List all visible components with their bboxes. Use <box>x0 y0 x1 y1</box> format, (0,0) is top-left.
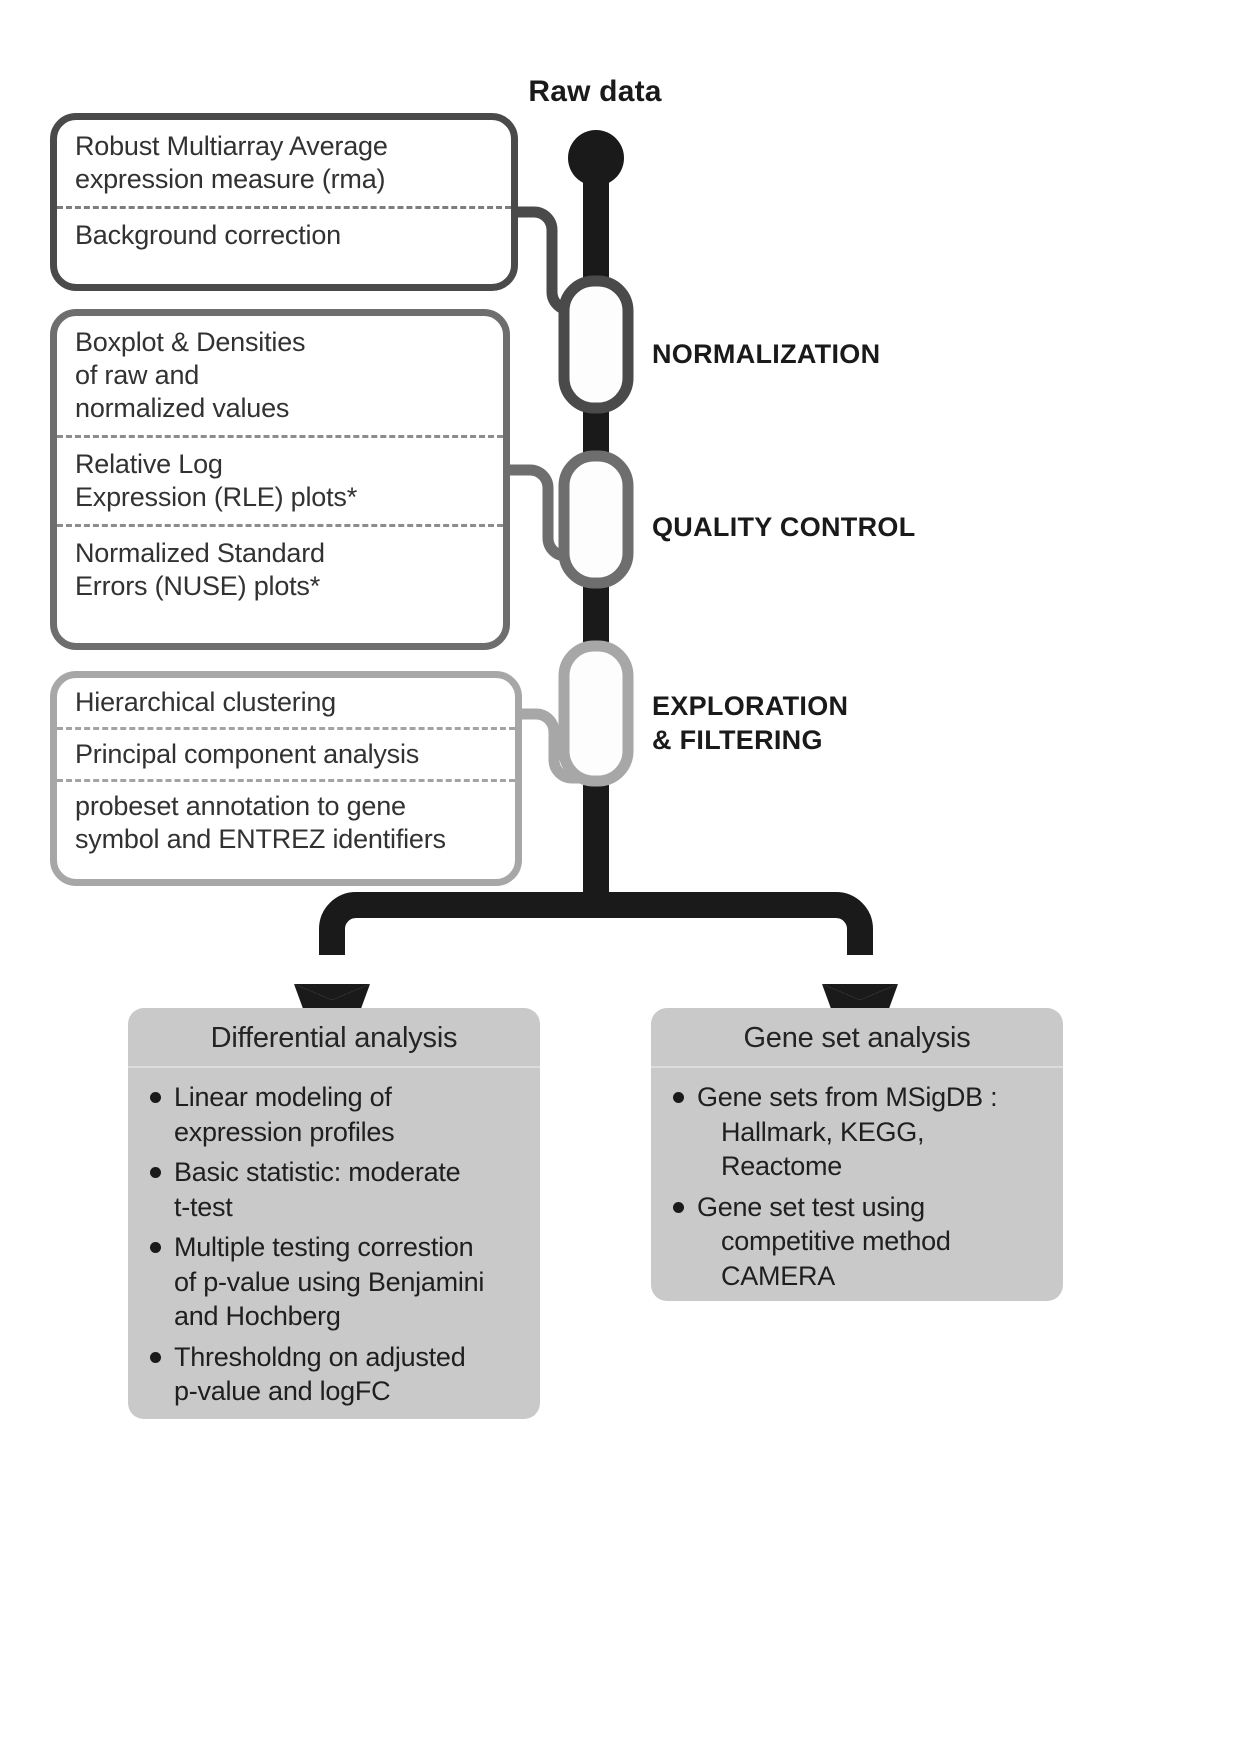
detail-row-pca: Principal component analysis <box>57 727 515 779</box>
fork-left <box>332 905 596 955</box>
da-item1-line1: Linear modeling of <box>174 1082 392 1112</box>
detail-row-hierarchical-clustering: Hierarchical clustering <box>57 678 515 727</box>
list-item: Linear modeling of expression profiles <box>144 1080 526 1149</box>
list-item: Thresholdng on adjusted p-value and logF… <box>144 1340 526 1409</box>
detail-row-boxplot-densities: Boxplot & Densities of raw and normalize… <box>57 316 503 435</box>
rle-line-1: Relative Log <box>75 449 223 479</box>
da-item4-line1: Thresholdng on adjusted <box>174 1342 465 1372</box>
detail-row-nuse-plots: Normalized Standard Errors (NUSE) plots* <box>57 524 503 613</box>
page-title: Raw data <box>430 75 760 109</box>
differential-analysis-list: Linear modeling of expression profiles B… <box>128 1068 540 1419</box>
boxplot-line-1: Boxplot & Densities <box>75 327 305 357</box>
detail-row-probeset-annotation: probeset annotation to gene symbol and E… <box>57 779 515 864</box>
probeset-line-1: probeset annotation to gene <box>75 791 406 821</box>
fork-right <box>596 905 860 955</box>
da-item3-line3: and Hochberg <box>174 1299 526 1334</box>
da-item2-line1: Basic statistic: moderate <box>174 1157 460 1187</box>
rma-line-2: expression measure (rma) <box>75 164 385 194</box>
result-box-differential-analysis: Differential analysis Linear modeling of… <box>128 1008 540 1419</box>
detail-row-rle-plots: Relative Log Expression (RLE) plots* <box>57 435 503 524</box>
da-item1-line2: expression profiles <box>174 1115 526 1150</box>
detail-box-exploration: Hierarchical clustering Principal compon… <box>50 671 522 886</box>
list-item: Multiple testing correstion of p-value u… <box>144 1230 526 1334</box>
node-quality <box>564 456 628 583</box>
nuse-line-1: Normalized Standard <box>75 538 325 568</box>
list-item: Gene sets from MSigDB : Hallmark, KEGG, … <box>667 1080 1049 1184</box>
da-item3-line2: of p-value using Benjamini <box>174 1265 526 1300</box>
list-item: Basic statistic: moderate t-test <box>144 1155 526 1224</box>
gs-item2-line2: competitive method <box>697 1224 1049 1259</box>
gs-item2-line3: CAMERA <box>697 1259 1049 1294</box>
nuse-line-2: Errors (NUSE) plots* <box>75 571 320 601</box>
result-box-gene-set-analysis: Gene set analysis Gene sets from MSigDB … <box>651 1008 1063 1301</box>
node-normalization <box>564 281 628 408</box>
pca-line-1: Principal component analysis <box>75 739 419 769</box>
differential-analysis-title: Differential analysis <box>128 1008 540 1068</box>
gs-item1-line3: Reactome <box>697 1149 1049 1184</box>
boxplot-line-2: of raw and <box>75 360 199 390</box>
detail-box-quality-control: Boxplot & Densities of raw and normalize… <box>50 309 510 650</box>
gs-item1-line2: Hallmark, KEGG, <box>697 1115 1049 1150</box>
da-item2-line2: t-test <box>174 1190 526 1225</box>
stage-label-exploration-line-1: EXPLORATION <box>652 691 848 721</box>
stage-label-quality-control: QUALITY CONTROL <box>652 511 916 545</box>
list-item: Gene set test using competitive method C… <box>667 1190 1049 1294</box>
gs-item2-line1: Gene set test using <box>697 1192 925 1222</box>
gs-item1-line1: Gene sets from MSigDB : <box>697 1082 997 1112</box>
detail-row-rma: Robust Multiarray Average expression mea… <box>57 120 511 206</box>
probeset-line-2: symbol and ENTREZ identifiers <box>75 824 446 854</box>
rma-line-1: Robust Multiarray Average <box>75 131 388 161</box>
boxplot-line-3: normalized values <box>75 393 289 423</box>
gene-set-analysis-list: Gene sets from MSigDB : Hallmark, KEGG, … <box>651 1068 1063 1301</box>
detail-box-normalization: Robust Multiarray Average expression mea… <box>50 113 518 291</box>
node-exploration <box>564 646 628 781</box>
da-item4-line2: p-value and logFC <box>174 1374 526 1409</box>
detail-row-background-correction: Background correction <box>57 206 511 262</box>
gene-set-analysis-title: Gene set analysis <box>651 1008 1063 1068</box>
da-item3-line1: Multiple testing correstion <box>174 1232 473 1262</box>
stage-label-normalization: NORMALIZATION <box>652 338 880 372</box>
raw-data-node <box>568 130 624 186</box>
background-correction-line-1: Background correction <box>75 220 341 250</box>
stage-label-exploration: EXPLORATION & FILTERING <box>652 690 848 758</box>
rle-line-2: Expression (RLE) plots* <box>75 482 357 512</box>
stage-label-exploration-line-2: & FILTERING <box>652 725 823 755</box>
hierarchical-clustering-line-1: Hierarchical clustering <box>75 687 336 717</box>
